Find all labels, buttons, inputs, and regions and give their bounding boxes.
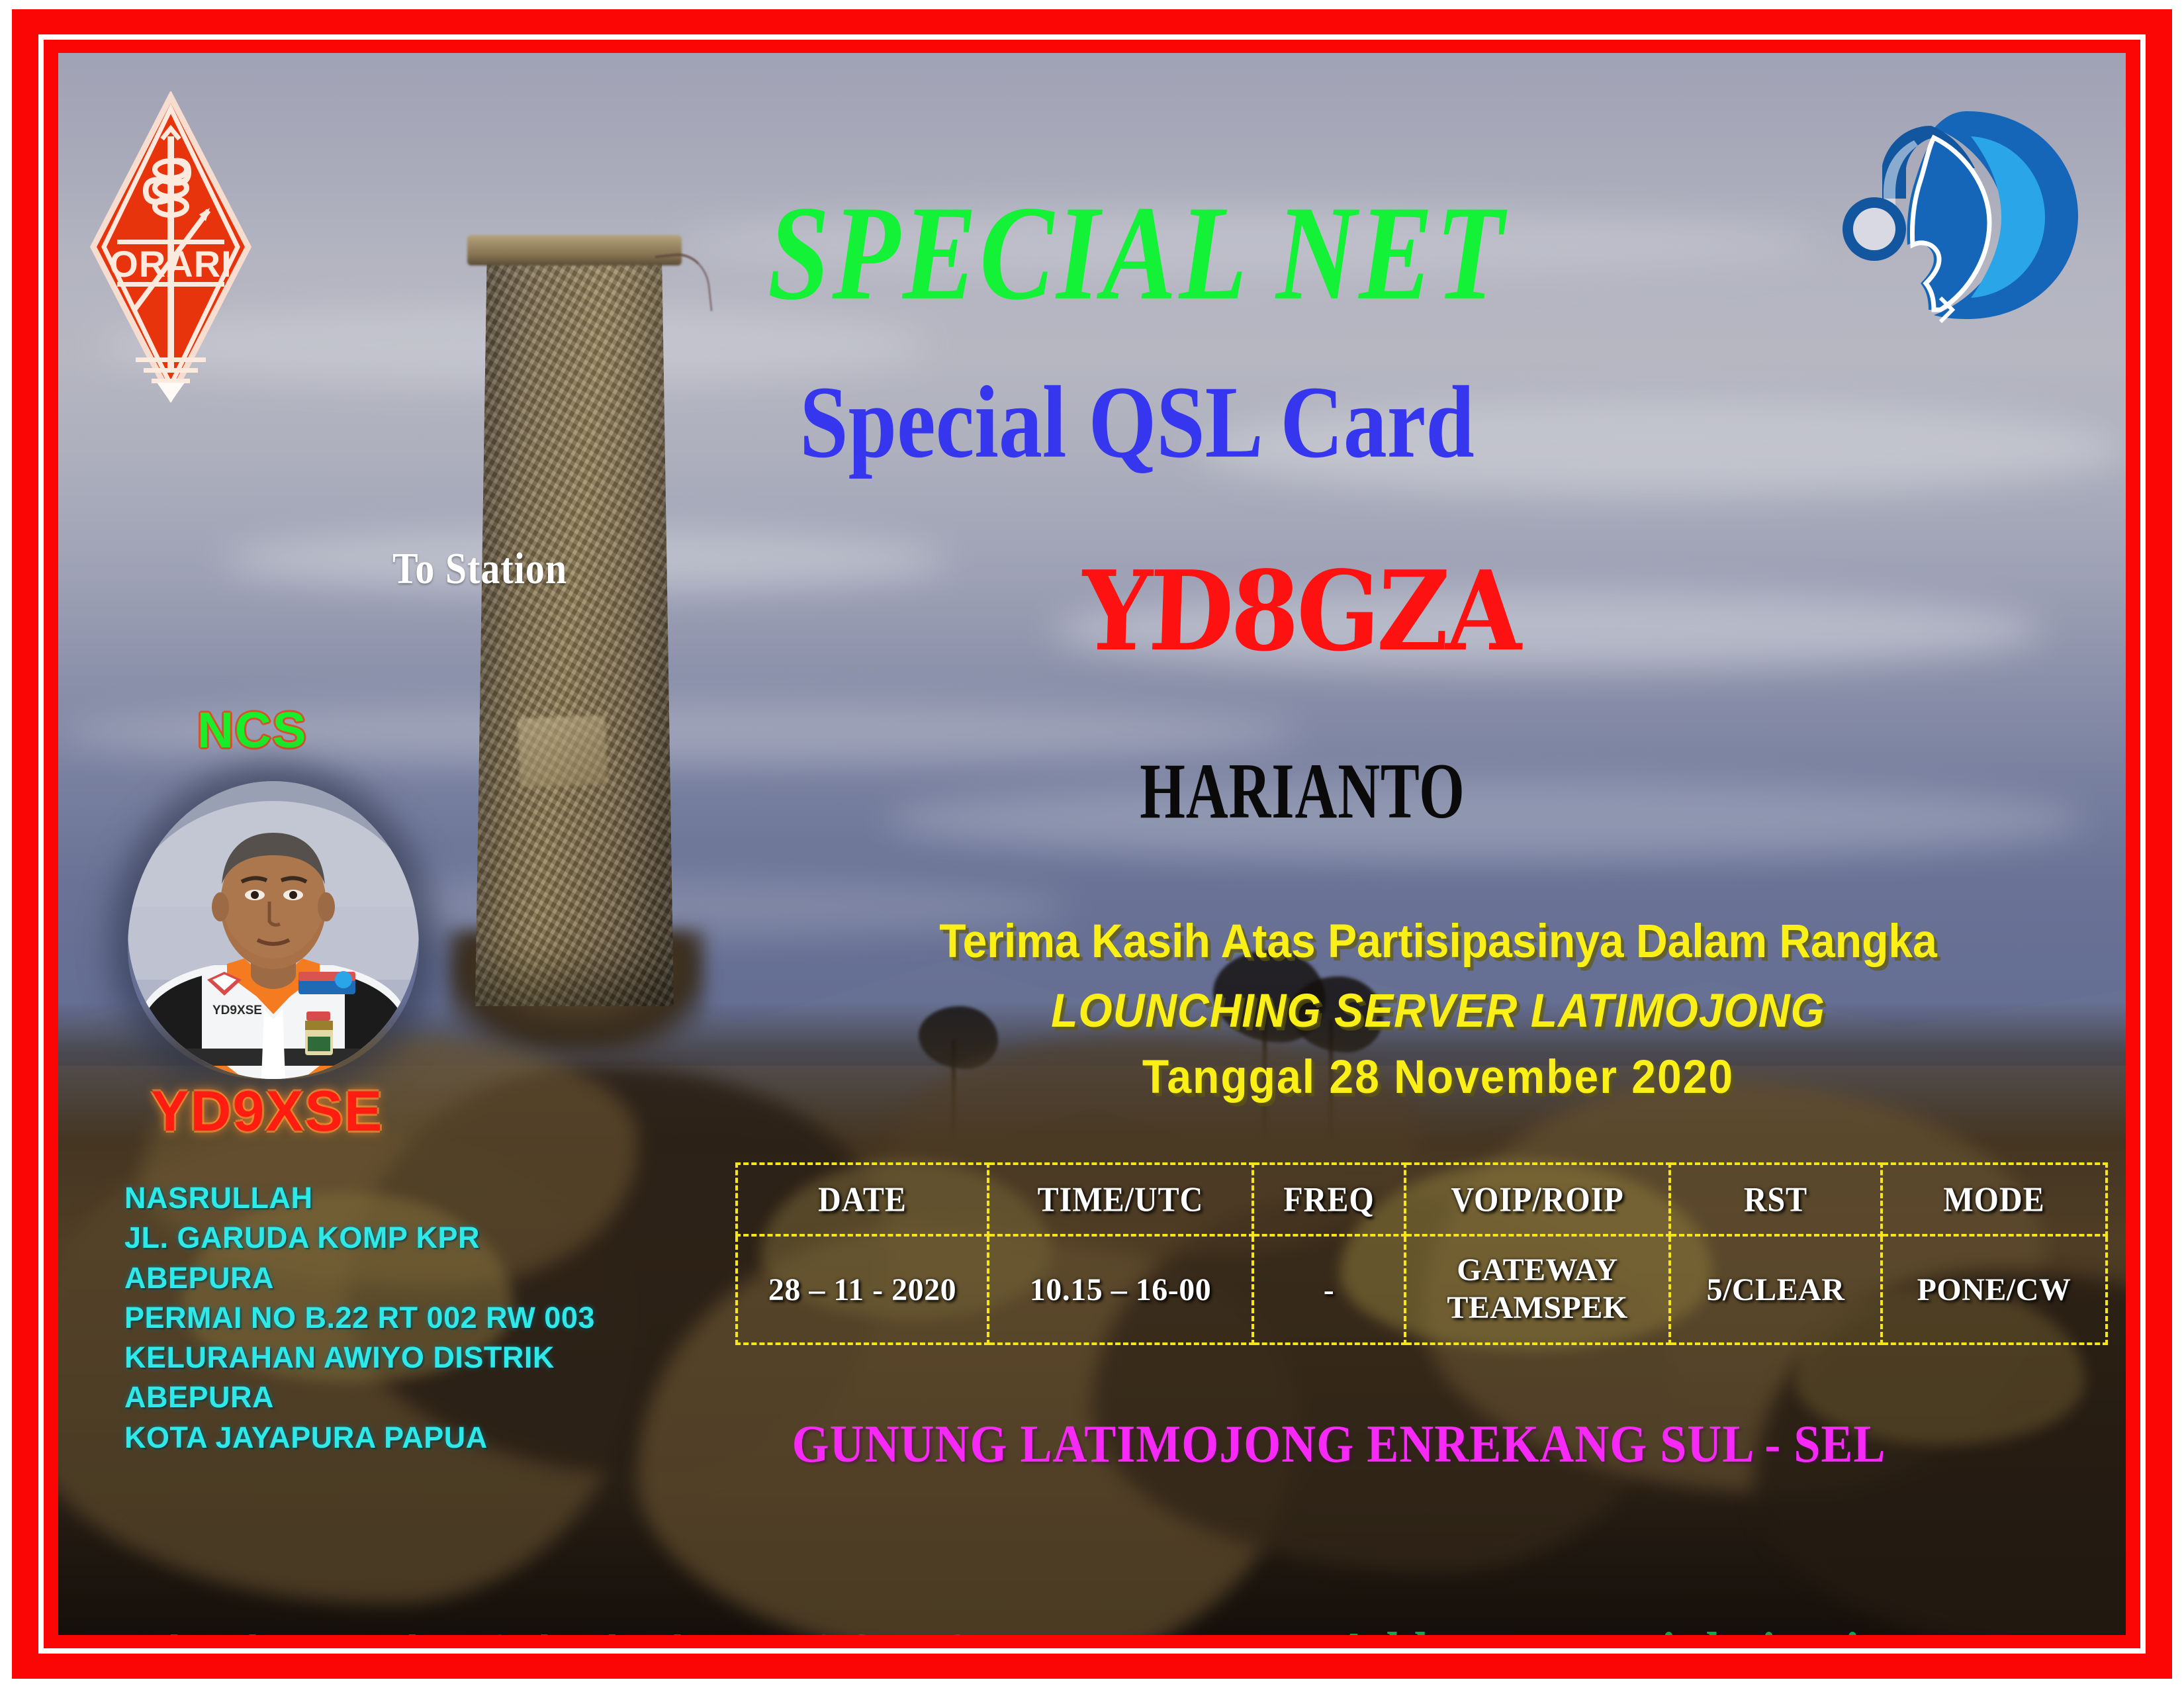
table-header-row: DATE TIME/UTC FREQ VOIP/ROIP RST MODE bbox=[737, 1164, 2107, 1235]
address-line: KELURAHAN AWIYO DISTRIK bbox=[124, 1338, 647, 1378]
table-header-freq: FREQ bbox=[1253, 1160, 1405, 1239]
cell-voip: GATEWAY TEAMSPEK bbox=[1405, 1235, 1670, 1344]
headset-profile-logo bbox=[1835, 99, 2086, 331]
table-header-mode: MODE bbox=[1882, 1160, 2107, 1239]
to-station-label: To Station bbox=[392, 543, 567, 594]
ncs-label: NCS bbox=[197, 702, 307, 759]
address-line: KOTA JAYAPURA PAPUA bbox=[124, 1418, 647, 1458]
table-header-voip: VOIP/ROIP bbox=[1405, 1160, 1670, 1239]
cell-freq: - bbox=[1253, 1235, 1405, 1344]
ncs-operator-photo: YD9XSE bbox=[128, 781, 419, 1079]
cell-voip-line1: GATEWAY bbox=[1457, 1252, 1618, 1288]
table-header-date: DATE bbox=[737, 1160, 988, 1239]
cell-rst: 5/CLEAR bbox=[1670, 1235, 1882, 1344]
event-title-line: LOUNCHING SERVER LATIMOJONG bbox=[760, 983, 2116, 1037]
cell-date: 28 – 11 - 2020 bbox=[737, 1235, 988, 1344]
address-line: JL. GARUDA KOMP KPR bbox=[124, 1218, 647, 1258]
address-line: NASRULLAH bbox=[124, 1178, 647, 1218]
qsl-card: ORARI SPECIAL NET Special QSL Card bbox=[0, 0, 2184, 1688]
station-callsign: YD8GZA bbox=[968, 556, 1633, 666]
event-thanks-line: Terima Kasih Atas Partisipasinya Dalam R… bbox=[760, 914, 2116, 968]
orari-diamond-logo: ORARI bbox=[88, 91, 253, 402]
table-header-time: TIME/UTC bbox=[988, 1160, 1253, 1239]
svg-text:YD9XSE: YD9XSE bbox=[212, 1004, 262, 1017]
background-photo: ORARI SPECIAL NET Special QSL Card bbox=[58, 53, 2126, 1635]
address-line: ABEPURA bbox=[124, 1258, 647, 1298]
address-line: PERMAI NO B.22 RT 002 RW 003 bbox=[124, 1298, 647, 1338]
footer-slogan: "AMATIR RADIO ADALAH PROGRESIVE" bbox=[131, 1622, 1079, 1635]
ncs-callsign: YD9XSE bbox=[151, 1079, 383, 1145]
location-line: GUNUNG LATIMOJONG ENREKANG SUL - SEL bbox=[710, 1413, 1968, 1475]
footer-web-address: Address : amatir.latimojong.com bbox=[1336, 1620, 2040, 1635]
cell-voip-line2: TEAMSPEK bbox=[1447, 1290, 1627, 1325]
event-date-line: Tanggal 28 November 2020 bbox=[760, 1049, 2116, 1103]
address-line: ABEPURA bbox=[124, 1378, 647, 1417]
operator-name: HARIANTO bbox=[949, 751, 1655, 831]
orari-logo-text: ORARI bbox=[109, 243, 232, 285]
qso-log-table: DATE TIME/UTC FREQ VOIP/ROIP RST MODE 28… bbox=[735, 1162, 2108, 1345]
cell-time: 10.15 – 16-00 bbox=[988, 1235, 1253, 1344]
page-subtitle-qsl-card: Special QSL Card bbox=[469, 371, 1805, 474]
page-title-special-net: SPECIAL NET bbox=[469, 185, 1805, 321]
table-row: 28 – 11 - 2020 10.15 – 16-00 - GATEWAY T… bbox=[737, 1235, 2107, 1344]
station-address-block: NASRULLAH JL. GARUDA KOMP KPR ABEPURA PE… bbox=[124, 1178, 647, 1458]
table-header-rst: RST bbox=[1670, 1160, 1882, 1239]
cell-mode: PONE/CW bbox=[1882, 1235, 2107, 1344]
